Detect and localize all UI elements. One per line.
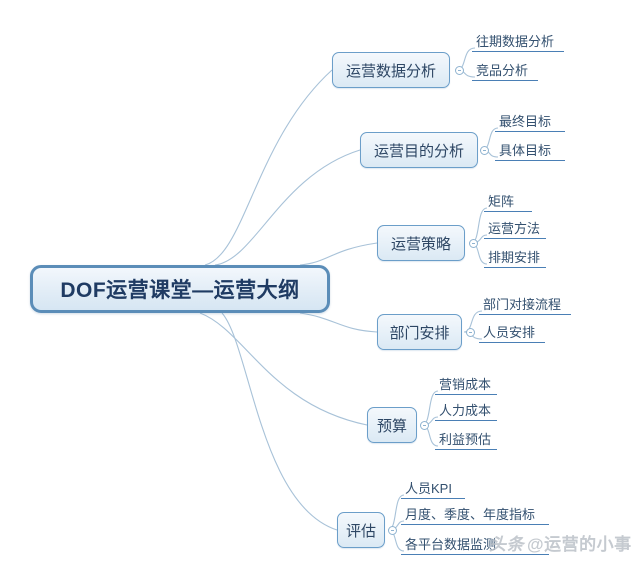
branch-node-3[interactable]: 运营策略 <box>377 225 465 261</box>
leaf-node-2-1-label: 最终目标 <box>499 114 561 129</box>
branch-node-1[interactable]: 运营数据分析 <box>332 52 450 88</box>
collapse-toggle-4[interactable] <box>466 328 475 337</box>
leaf-node-5-3-label: 利益预估 <box>439 432 493 447</box>
branch-node-4-label: 部门安排 <box>389 322 449 343</box>
leaf-node-3-2-label: 运营方法 <box>488 221 542 236</box>
branch-node-5[interactable]: 预算 <box>367 407 417 443</box>
branch-node-3-label: 运营策略 <box>391 233 451 254</box>
leaf-node-6-1-label: 人员KPI <box>405 481 461 496</box>
leaf-node-5-2[interactable]: 人力成本 <box>435 402 497 421</box>
leaf-node-3-1-label: 矩阵 <box>488 194 528 209</box>
leaf-node-3-3-label: 排期安排 <box>488 250 542 265</box>
leaf-node-2-2-label: 具体目标 <box>499 143 561 158</box>
leaf-node-5-3[interactable]: 利益预估 <box>435 431 497 450</box>
collapse-toggle-1[interactable] <box>455 66 464 75</box>
branch-node-2[interactable]: 运营目的分析 <box>360 132 478 168</box>
leaf-node-5-1-label: 营销成本 <box>439 377 493 392</box>
leaf-node-6-2[interactable]: 月度、季度、年度指标 <box>401 506 549 525</box>
leaf-node-1-2[interactable]: 竞品分析 <box>472 62 538 81</box>
leaf-node-3-1[interactable]: 矩阵 <box>484 193 532 212</box>
leaf-node-4-1[interactable]: 部门对接流程 <box>479 296 571 315</box>
root-node[interactable]: DOF运营课堂—运营大纲 <box>30 265 330 313</box>
leaf-node-5-2-label: 人力成本 <box>439 403 493 418</box>
branch-node-6-label: 评估 <box>346 520 376 541</box>
watermark-handle: @运营的小事 <box>527 535 632 554</box>
leaf-node-3-3[interactable]: 排期安排 <box>484 249 546 268</box>
leaf-node-4-2[interactable]: 人员安排 <box>479 324 545 343</box>
leaf-node-5-1[interactable]: 营销成本 <box>435 376 497 395</box>
leaf-node-6-1[interactable]: 人员KPI <box>401 480 465 499</box>
branch-node-4[interactable]: 部门安排 <box>377 314 462 350</box>
leaf-node-1-1[interactable]: 往期数据分析 <box>472 33 564 52</box>
collapse-toggle-2[interactable] <box>480 146 489 155</box>
watermark-logo: 头条 <box>489 535 524 554</box>
root-node-label: DOF运营课堂—运营大纲 <box>60 274 299 304</box>
collapse-toggle-6[interactable] <box>388 526 397 535</box>
leaf-node-1-2-label: 竞品分析 <box>476 63 534 78</box>
leaf-node-1-1-label: 往期数据分析 <box>476 34 560 49</box>
leaf-node-3-2[interactable]: 运营方法 <box>484 220 546 239</box>
leaf-node-6-2-label: 月度、季度、年度指标 <box>405 507 545 522</box>
branch-node-6[interactable]: 评估 <box>337 512 385 548</box>
branch-node-5-label: 预算 <box>377 415 407 436</box>
collapse-toggle-3[interactable] <box>469 239 478 248</box>
leaf-node-2-1[interactable]: 最终目标 <box>495 113 565 132</box>
branch-node-1-label: 运营数据分析 <box>346 60 436 81</box>
leaf-node-2-2[interactable]: 具体目标 <box>495 142 565 161</box>
leaf-node-4-1-label: 部门对接流程 <box>483 297 567 312</box>
branch-node-2-label: 运营目的分析 <box>374 140 464 161</box>
watermark: 头条@运营的小事 <box>489 530 632 555</box>
leaf-node-4-2-label: 人员安排 <box>483 325 541 340</box>
mindmap-canvas: DOF运营课堂—运营大纲 运营数据分析 往期数据分析 竞品分析 运营目的分析 最… <box>0 0 640 565</box>
collapse-toggle-5[interactable] <box>420 421 429 430</box>
